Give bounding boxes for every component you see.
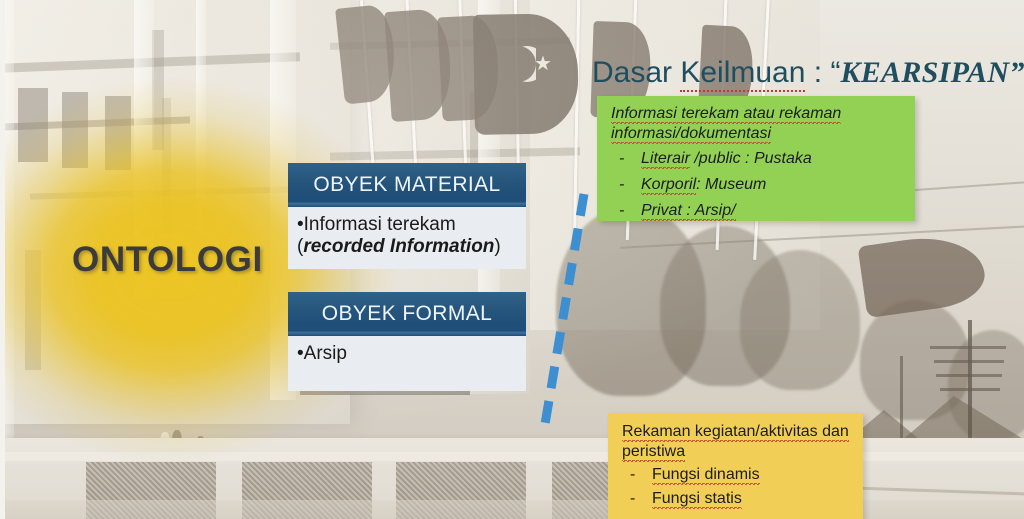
title-prefix: Dasar [592,56,680,89]
obyek-formal-body: •Arsip [288,336,526,391]
obyek-formal-text: Arsip [304,343,347,364]
yellow-item-text: Fungsi dinamis [652,466,760,485]
green-panel-list: Literair /public : Pustaka Korporil: Mus… [611,150,905,220]
obyek-material-box: OBYEK MATERIAL •Informasi terekam (recor… [288,163,526,269]
green-lead-line1: Informasi terekam atau rekaman [611,105,841,124]
title-spellchecked-word: Keilmuan [680,56,805,92]
yellow-lead-line2: peristiwa [622,443,685,462]
obyek-formal-bullet-line: •Arsip [297,343,517,365]
obyek-formal-box: OBYEK FORMAL •Arsip [288,292,526,391]
crescent-icon [500,46,536,82]
yellow-panel-lead: Rekaman kegiatan/aktivitas dan peristiwa [622,422,855,461]
green-definition-panel: Informasi terekam atau rekaman informasi… [597,96,915,221]
green-item-rest: : Museum [696,176,766,193]
obyek-material-text: Informasi terekam [304,214,456,235]
page-title: Dasar Keilmuan : “KEARSIPAN” [592,56,1024,90]
obyek-material-bullet-line: •Informasi terekam [297,214,517,236]
title-separator: : “ [805,56,840,89]
ontologi-label: ONTOLOGI [72,240,263,280]
list-item: Literair /public : Pustaka [611,150,905,168]
yellow-definition-panel: Rekaman kegiatan/aktivitas dan peristiwa… [608,413,863,519]
green-panel-lead: Informasi terekam atau rekaman informasi… [611,104,905,143]
list-item: Privat : Arsip/ [611,202,905,220]
yellow-panel-list: Fungsi dinamis Fungsi statis [622,466,855,508]
green-item-rest: /public : Pustaka [690,150,812,167]
photo-tree [740,250,860,390]
list-item: Korporil: Museum [611,176,905,194]
green-item-underlined: Korporil [641,176,696,195]
title-emphasis: KEARSIPAN [840,56,1009,89]
green-item-rest: Privat : Arsip/ [641,202,736,221]
photo-kerb [0,500,1024,519]
slide-canvas: ONTOLOGI OBYEK MATERIAL •Informasi terek… [0,0,1024,519]
yellow-lead-line1: Rekaman kegiatan/aktivitas dan [622,423,849,442]
obyek-material-header: OBYEK MATERIAL [288,163,526,207]
bullet-glyph: • [297,214,304,235]
slide-left-edge [0,0,5,519]
list-item: Fungsi statis [622,490,855,508]
bullet-glyph: • [297,343,304,364]
close-paren: ) [494,236,500,257]
title-suffix: ” [1009,56,1024,89]
yellow-item-text: Fungsi statis [652,490,742,509]
green-item-underlined: Literair [641,150,690,169]
obyek-material-paren-line: (recorded Information) [297,236,517,258]
recorded-information-italic: recorded Information [303,236,494,257]
obyek-formal-header: OBYEK FORMAL [288,292,526,336]
obyek-material-body: •Informasi terekam (recorded Information… [288,207,526,269]
green-lead-line2: informasi/dokumentasi [611,125,771,144]
list-item: Fungsi dinamis [622,466,855,484]
